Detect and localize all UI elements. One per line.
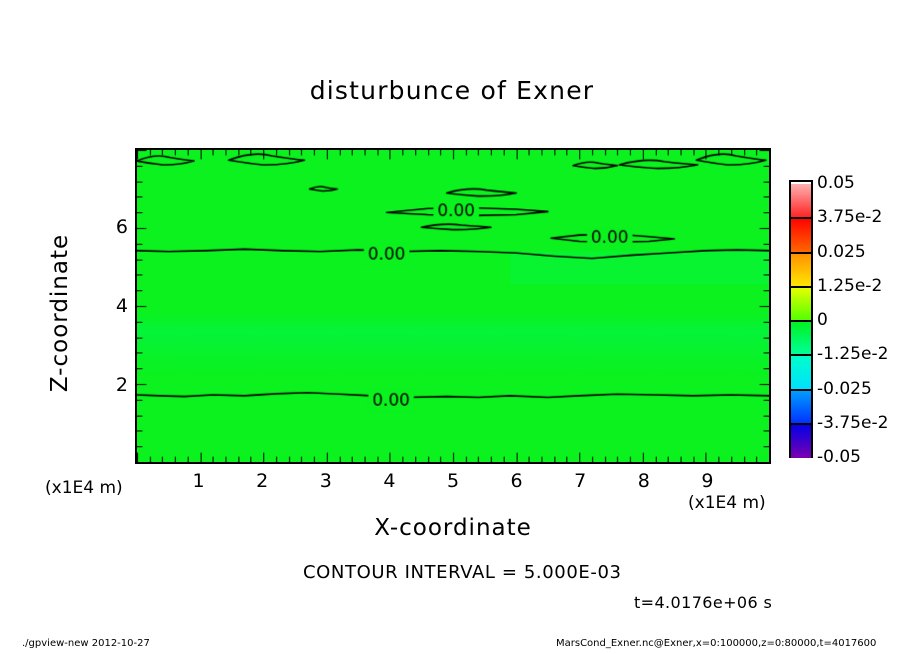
colorbar-band [791, 218, 811, 252]
colorbar-band [791, 355, 811, 389]
colorbar-tick-label: 0.025 [817, 242, 866, 262]
x-tick-label: 5 [433, 470, 473, 492]
colorbar-tick-label: 1.25e-2 [817, 276, 882, 296]
colorbar-band [791, 287, 811, 321]
x-tick-label: 4 [369, 470, 409, 492]
contour-interval-text: CONTOUR INTERVAL = 5.000E-03 [303, 562, 622, 583]
x-tick-label: 7 [560, 470, 600, 492]
colorbar-tick-label: -1.25e-2 [817, 344, 888, 364]
x-tick-label: 6 [497, 470, 537, 492]
colorbar-band [791, 321, 811, 355]
y-axis-title: Z-coordinate [47, 213, 73, 413]
colorbar-band [791, 390, 811, 424]
colorbar-band [791, 184, 811, 218]
x-tick-label: 8 [624, 470, 664, 492]
x-tick-label: 9 [687, 470, 727, 492]
x-axis-unit-right: (x1E4 m) [688, 493, 766, 513]
contour-plot-area[interactable] [135, 148, 771, 464]
colorbar-separator [791, 252, 811, 254]
colorbar-band [791, 253, 811, 287]
colorbar-tick-label: 0.05 [817, 173, 855, 193]
colorbar[interactable] [789, 180, 813, 458]
colorbar-separator [791, 354, 811, 356]
colorbar-separator [791, 217, 811, 219]
contour-field-canvas [137, 150, 769, 462]
colorbar-separator [791, 423, 811, 425]
colorbar-gradient [789, 180, 813, 458]
y-tick-label: 6 [98, 216, 128, 238]
x-tick-label: 3 [306, 470, 346, 492]
colorbar-tick-label: -3.75e-2 [817, 413, 888, 433]
page-title: disturbunce of Exner [0, 76, 904, 105]
colorbar-separator [791, 320, 811, 322]
colorbar-separator [791, 389, 811, 391]
x-tick-label: 1 [179, 470, 219, 492]
colorbar-tick-label: -0.05 [817, 447, 861, 467]
colorbar-band [791, 424, 811, 458]
time-annotation-text: t=4.0176e+06 s [634, 593, 772, 612]
y-tick-label: 4 [98, 295, 128, 317]
y-tick-label: 2 [98, 374, 128, 396]
footer-command-text: ./gpview-new 2012-10-27 [22, 638, 150, 649]
footer-source-text: MarsCond_Exner.nc@Exner,x=0:100000,z=0:8… [556, 638, 876, 649]
colorbar-tick-label: 0 [817, 310, 828, 330]
x-tick-label: 2 [242, 470, 282, 492]
x-axis-unit-left: (x1E4 m) [45, 478, 123, 498]
colorbar-separator [791, 286, 811, 288]
x-axis-title: X-coordinate [135, 515, 771, 541]
colorbar-tick-label: 3.75e-2 [817, 207, 882, 227]
gpview-plot-window: disturbunce of Exner X-coordinate Z-coor… [0, 0, 904, 654]
colorbar-tick-label: -0.025 [817, 379, 872, 399]
